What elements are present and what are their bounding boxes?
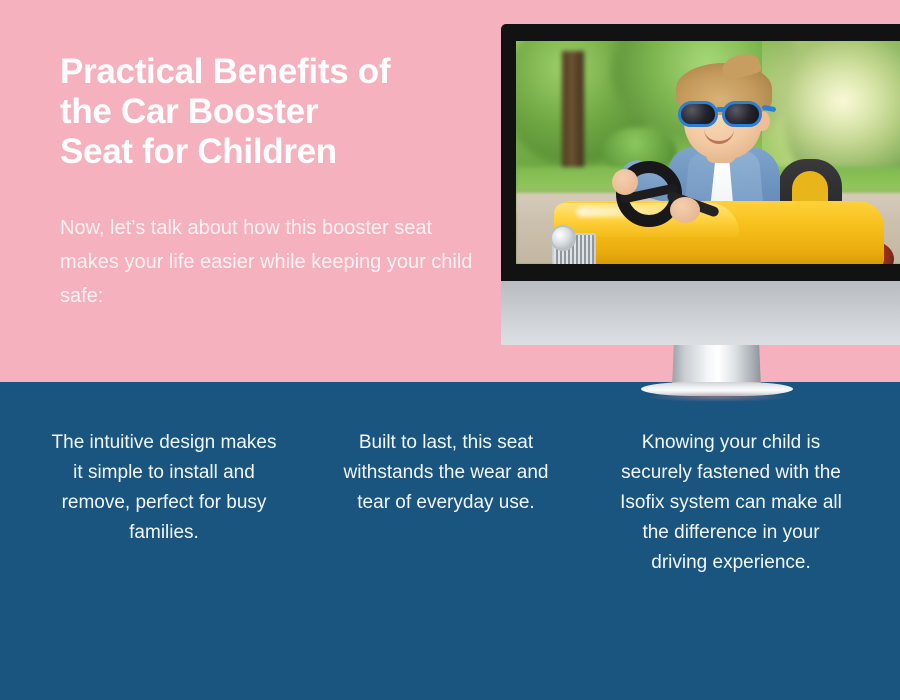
sun-glare (762, 41, 900, 173)
benefit-column-ease-of-install: The intuitive design makes it simple to … (48, 428, 280, 548)
infographic-canvas: Practical Benefits of the Car Booster Se… (0, 0, 900, 700)
sunglasses-temple (762, 105, 777, 112)
headline-line-3: Seat for Children (60, 132, 480, 172)
child-hand-right (670, 197, 700, 223)
sunglasses-lens-right (722, 101, 762, 127)
headline-line-2: the Car Booster (60, 92, 480, 132)
child-hand-left (612, 169, 638, 195)
headline-line-1: Practical Benefits of (60, 52, 480, 92)
toy-car-headlight (550, 225, 576, 251)
subhead-text: Now, let’s talk about how this booster s… (60, 172, 475, 313)
child-in-toy-car-photo (516, 41, 900, 264)
blue-sunglasses-icon (678, 101, 770, 127)
sunglasses-lens-left (678, 101, 718, 127)
headline-block: Practical Benefits of the Car Booster Se… (60, 52, 480, 313)
benefits-section: The intuitive design makes it simple to … (0, 382, 900, 700)
monitor-chin (501, 281, 900, 345)
monitor-screen (516, 41, 900, 264)
benefit-column-durability: Built to last, this seat withstands the … (330, 428, 562, 518)
toy-car-seat-cutout (792, 171, 828, 205)
monitor-illustration (501, 24, 900, 322)
page-title: Practical Benefits of the Car Booster Se… (60, 52, 480, 172)
tree-trunk (562, 51, 584, 181)
sunglasses-bridge (716, 107, 726, 112)
benefit-column-isofix-safety: Knowing your child is securely fastened … (614, 428, 848, 578)
